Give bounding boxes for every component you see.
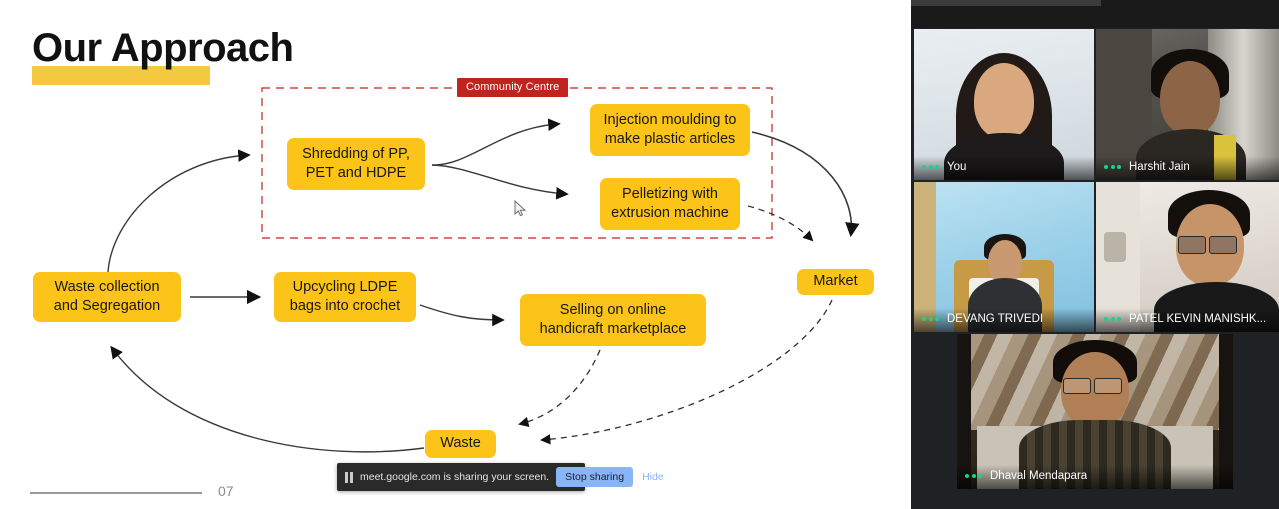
tile-label: Dhaval Mendapara xyxy=(957,465,1233,489)
mouse-cursor-icon xyxy=(514,200,528,218)
screen-root: Our Approach xyxy=(0,0,1279,509)
video-tile-you[interactable]: You xyxy=(914,29,1094,180)
panel-topbar xyxy=(911,0,1279,28)
stop-sharing-button[interactable]: Stop sharing xyxy=(556,467,633,487)
participant-name: Harshit Jain xyxy=(1129,161,1190,173)
video-participants-panel: You Harshit Jain xyxy=(911,0,1279,509)
node-pelletizing[interactable]: Pelletizing with extrusion machine xyxy=(600,178,740,230)
share-message: meet.google.com is sharing your screen. xyxy=(360,471,549,483)
node-waste-collection[interactable]: Waste collection and Segregation xyxy=(33,272,181,322)
video-tile-devang-trivedi[interactable]: DEVANG TRIVEDI xyxy=(914,182,1094,332)
speaking-indicator-icon xyxy=(922,165,939,169)
community-centre-label: Community Centre xyxy=(457,78,568,97)
speaking-indicator-icon xyxy=(922,317,939,321)
speaking-indicator-icon xyxy=(1104,165,1121,169)
node-shredding[interactable]: Shredding of PP, PET and HDPE xyxy=(287,138,425,190)
screen-share-bar: meet.google.com is sharing your screen. … xyxy=(337,463,585,491)
tile-label: You xyxy=(914,156,1094,180)
video-tile-dhaval-mendapara[interactable]: Dhaval Mendapara xyxy=(957,334,1233,489)
pause-icon xyxy=(345,472,353,483)
hide-button[interactable]: Hide xyxy=(642,471,664,483)
video-tile-harshit-jain[interactable]: Harshit Jain xyxy=(1096,29,1279,180)
panel-topbar-chip xyxy=(911,0,1101,6)
speaking-indicator-icon xyxy=(1104,317,1121,321)
node-upcycling-ldpe[interactable]: Upcycling LDPE bags into crochet xyxy=(274,272,416,322)
participant-name: DEVANG TRIVEDI xyxy=(947,313,1043,325)
node-waste[interactable]: Waste xyxy=(425,430,496,458)
participant-name: Dhaval Mendapara xyxy=(990,470,1087,482)
presentation-slide: Our Approach xyxy=(0,0,911,509)
node-selling-marketplace[interactable]: Selling on online handicraft marketplace xyxy=(520,294,706,346)
node-injection-moulding[interactable]: Injection moulding to make plastic artic… xyxy=(590,104,750,156)
tile-label: Harshit Jain xyxy=(1096,156,1279,180)
tile-label: DEVANG TRIVEDI xyxy=(914,308,1094,332)
video-tile-patel-kevin[interactable]: PATEL KEVIN MANISHK... xyxy=(1096,182,1279,332)
speaking-indicator-icon xyxy=(965,474,982,478)
footer-divider xyxy=(30,492,202,494)
participant-name: You xyxy=(947,161,966,173)
node-market[interactable]: Market xyxy=(797,269,874,295)
page-number: 07 xyxy=(218,483,234,499)
tile-label: PATEL KEVIN MANISHK... xyxy=(1096,308,1279,332)
participant-name: PATEL KEVIN MANISHK... xyxy=(1129,313,1266,325)
